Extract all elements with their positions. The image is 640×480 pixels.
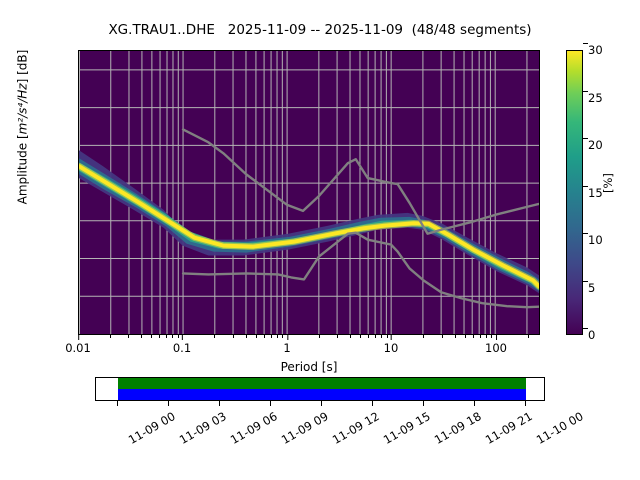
- y-axis-label-suffix: ] [dB]: [16, 50, 30, 84]
- timeline-tick-label: 11-09 00: [126, 409, 178, 447]
- ppsd-mode-ridge: [79, 166, 539, 286]
- colorbar-tick-label: 20: [588, 138, 603, 152]
- x-minor-tick: [491, 335, 492, 338]
- timeline-tick-label: 11-09 09: [279, 409, 331, 447]
- x-minor-tick: [166, 335, 167, 338]
- x-minor-tick: [256, 335, 257, 338]
- x-minor-tick: [368, 335, 369, 338]
- x-minor-tick: [387, 335, 388, 338]
- x-minor-tick: [480, 335, 481, 338]
- x-minor-tick: [381, 335, 382, 338]
- x-minor-tick: [128, 335, 129, 338]
- x-minor-tick: [423, 335, 424, 338]
- timeline-tick: [168, 401, 169, 406]
- x-tick-label: 1: [283, 341, 290, 355]
- timeline-tick-label: 11-10 00: [534, 409, 586, 447]
- x-minor-tick: [110, 335, 111, 338]
- timeline-tick: [474, 401, 475, 406]
- x-minor-tick: [465, 335, 466, 338]
- x-minor-tick: [233, 335, 234, 338]
- timeline-tick-label: 11-09 15: [381, 409, 433, 447]
- x-minor-tick: [277, 335, 278, 338]
- x-minor-tick: [360, 335, 361, 338]
- timeline-tick-label: 11-09 12: [330, 409, 382, 447]
- x-minor-tick: [350, 335, 351, 338]
- timeline-tick-label: 11-09 06: [228, 409, 280, 447]
- x-minor-tick: [172, 335, 173, 338]
- timeline-tick: [423, 401, 424, 406]
- figure-title: XG.TRAU1..DHE 2025-11-09 -- 2025-11-09 (…: [0, 22, 640, 38]
- ppsd-plot-area[interactable]: [78, 50, 540, 335]
- x-minor-tick: [375, 335, 376, 338]
- colorbar-tick-label: 5: [588, 281, 595, 295]
- x-minor-tick: [159, 335, 160, 338]
- x-tick-label: 100: [485, 341, 507, 355]
- timeline-tick-label: 11-09 18: [432, 409, 484, 447]
- timeline-tick: [321, 401, 322, 406]
- x-minor-tick: [178, 335, 179, 338]
- x-minor-tick: [246, 335, 247, 338]
- timeline-tick: [270, 401, 271, 406]
- coverage-bar-green[interactable]: [118, 378, 526, 389]
- colorbar[interactable]: [566, 50, 583, 335]
- colorbar-tick-label: 25: [588, 91, 603, 105]
- x-minor-tick: [319, 335, 320, 338]
- x-minor-tick: [455, 335, 456, 338]
- timeline-tick: [525, 401, 526, 406]
- x-minor-tick: [214, 335, 215, 338]
- y-axis-label: Amplitude [m²/s⁴/Hz] [dB]: [16, 0, 30, 270]
- grid-lines: [79, 51, 539, 334]
- colorbar-tick-label: 0: [588, 328, 595, 342]
- timeline-tick-label: 11-09 21: [483, 409, 535, 447]
- x-tick-label: 0.01: [65, 341, 91, 355]
- colorbar-label: [%]: [601, 173, 615, 193]
- x-minor-tick: [282, 335, 283, 338]
- colorbar-tick-label: 30: [588, 43, 603, 57]
- timeline-tick: [372, 401, 373, 406]
- y-axis-label-units: m²/s⁴/Hz: [16, 83, 30, 134]
- x-axis-label: Period [s]: [78, 360, 540, 374]
- x-minor-tick: [486, 335, 487, 338]
- timeline-tick-label: 11-09 03: [177, 409, 229, 447]
- x-minor-tick: [337, 335, 338, 338]
- x-minor-tick: [473, 335, 474, 338]
- x-minor-tick: [442, 335, 443, 338]
- x-tick-label: 0.1: [173, 341, 191, 355]
- timeline-tick: [219, 401, 220, 406]
- x-minor-tick: [528, 335, 529, 338]
- data-coverage-timeline[interactable]: [95, 377, 545, 401]
- timeline-tick: [117, 401, 118, 406]
- x-minor-tick: [271, 335, 272, 338]
- x-minor-tick: [264, 335, 265, 338]
- x-minor-tick: [151, 335, 152, 338]
- ppsd-figure: XG.TRAU1..DHE 2025-11-09 -- 2025-11-09 (…: [0, 0, 640, 480]
- x-minor-tick: [141, 335, 142, 338]
- coverage-bar-blue[interactable]: [118, 389, 526, 400]
- x-tick-label: 10: [384, 341, 399, 355]
- y-axis-label-prefix: Amplitude [: [16, 134, 30, 204]
- plot-overlay: [79, 51, 539, 334]
- colorbar-tick-label: 10: [588, 233, 603, 247]
